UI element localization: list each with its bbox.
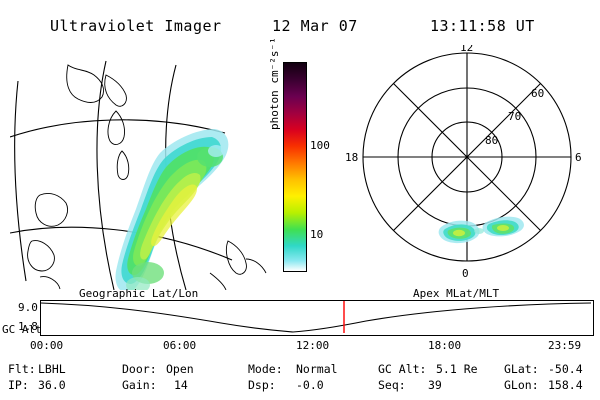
mlt-label-18: 18 — [345, 151, 358, 164]
mlt-label-0: 0 — [462, 267, 469, 280]
gc-alt-value: 5.1 Re — [436, 362, 478, 377]
observation-time: 13:11:58 UT — [430, 17, 535, 35]
status-row-1: Flt: LBHL Door: Open Mode: Normal GC Alt… — [8, 362, 592, 378]
xtick-1: 06:00 — [163, 339, 196, 352]
colorbar-tick-100: 100 — [310, 139, 330, 152]
mode-label: Mode: — [248, 362, 283, 377]
seq-value: 39 — [428, 378, 442, 393]
colorbar-axis-title: photon cm⁻²s⁻¹ — [268, 116, 281, 130]
gain-value: 14 — [174, 378, 188, 393]
gc-alt-axis-title: GC Alt — [2, 323, 42, 336]
aurora-emission-region — [116, 129, 229, 290]
geographic-map-svg — [10, 45, 270, 290]
polar-panel-caption: Apex MLat/MLT — [413, 287, 499, 300]
dsp-value: -0.0 — [296, 378, 324, 393]
observation-date: 12 Mar 07 — [272, 17, 358, 35]
apex-polar-svg: 12 18 6 0 60 70 80 — [345, 45, 590, 290]
time-axis: 00:00 06:00 12:00 18:00 23:59 — [8, 339, 592, 353]
xtick-0: 00:00 — [30, 339, 63, 352]
gc-alt-timeseries-panel[interactable]: 9.0 1.8 Geographic Lat/Lon Apex MLat/MLT — [8, 300, 592, 338]
flt-label: Flt: — [8, 362, 36, 377]
xtick-4: 23:59 — [548, 339, 581, 352]
apex-polar-panel[interactable]: 12 18 6 0 60 70 80 — [345, 45, 590, 290]
colorbar[interactable] — [283, 62, 307, 270]
gain-label: Gain: — [122, 378, 157, 393]
gc-alt-plot-box: Geographic Lat/Lon Apex MLat/MLT — [40, 300, 594, 336]
glat-value: -50.4 — [548, 362, 583, 377]
mlt-label-12: 12 — [460, 45, 473, 54]
glat-label: GLat: — [504, 362, 539, 377]
flt-value: LBHL — [38, 362, 66, 377]
apex-aurora-emission — [439, 217, 524, 244]
page-title: Ultraviolet Imager — [50, 17, 222, 35]
mlat-label-80: 80 — [485, 134, 498, 147]
mlat-label-70: 70 — [508, 110, 521, 123]
ip-label: IP: — [8, 378, 29, 393]
status-row-2: IP: 36.0 Gain: 14 Dsp: -0.0 Seq: 39 GLon… — [8, 378, 592, 394]
door-label: Door: — [122, 362, 157, 377]
ip-value: 36.0 — [38, 378, 66, 393]
status-footer: Flt: LBHL Door: Open Mode: Normal GC Alt… — [8, 362, 592, 394]
gc-alt-axis-label — [10, 308, 38, 321]
map-panel-caption: Geographic Lat/Lon — [79, 287, 198, 300]
door-value: Open — [166, 362, 194, 377]
glon-label: GLon: — [504, 378, 539, 393]
seq-label: Seq: — [378, 378, 406, 393]
dsp-label: Dsp: — [248, 378, 276, 393]
polar-axis-labels: 12 18 6 0 60 70 80 — [345, 45, 582, 280]
header-bar: Ultraviolet Imager 12 Mar 07 13:11:58 UT — [0, 8, 600, 32]
mode-value: Normal — [296, 362, 338, 377]
mlat-label-60: 60 — [531, 87, 544, 100]
xtick-3: 18:00 — [428, 339, 461, 352]
mlt-label-6: 6 — [575, 151, 582, 164]
colorbar-tick-10: 10 — [310, 228, 323, 241]
glon-value: 158.4 — [548, 378, 583, 393]
gc-alt-label: GC Alt: — [378, 362, 426, 377]
xtick-2: 12:00 — [296, 339, 329, 352]
colorbar-gradient — [283, 62, 307, 272]
geographic-map-panel[interactable] — [10, 45, 270, 290]
gc-alt-curve — [41, 303, 591, 332]
gc-alt-curve-svg — [41, 301, 591, 333]
